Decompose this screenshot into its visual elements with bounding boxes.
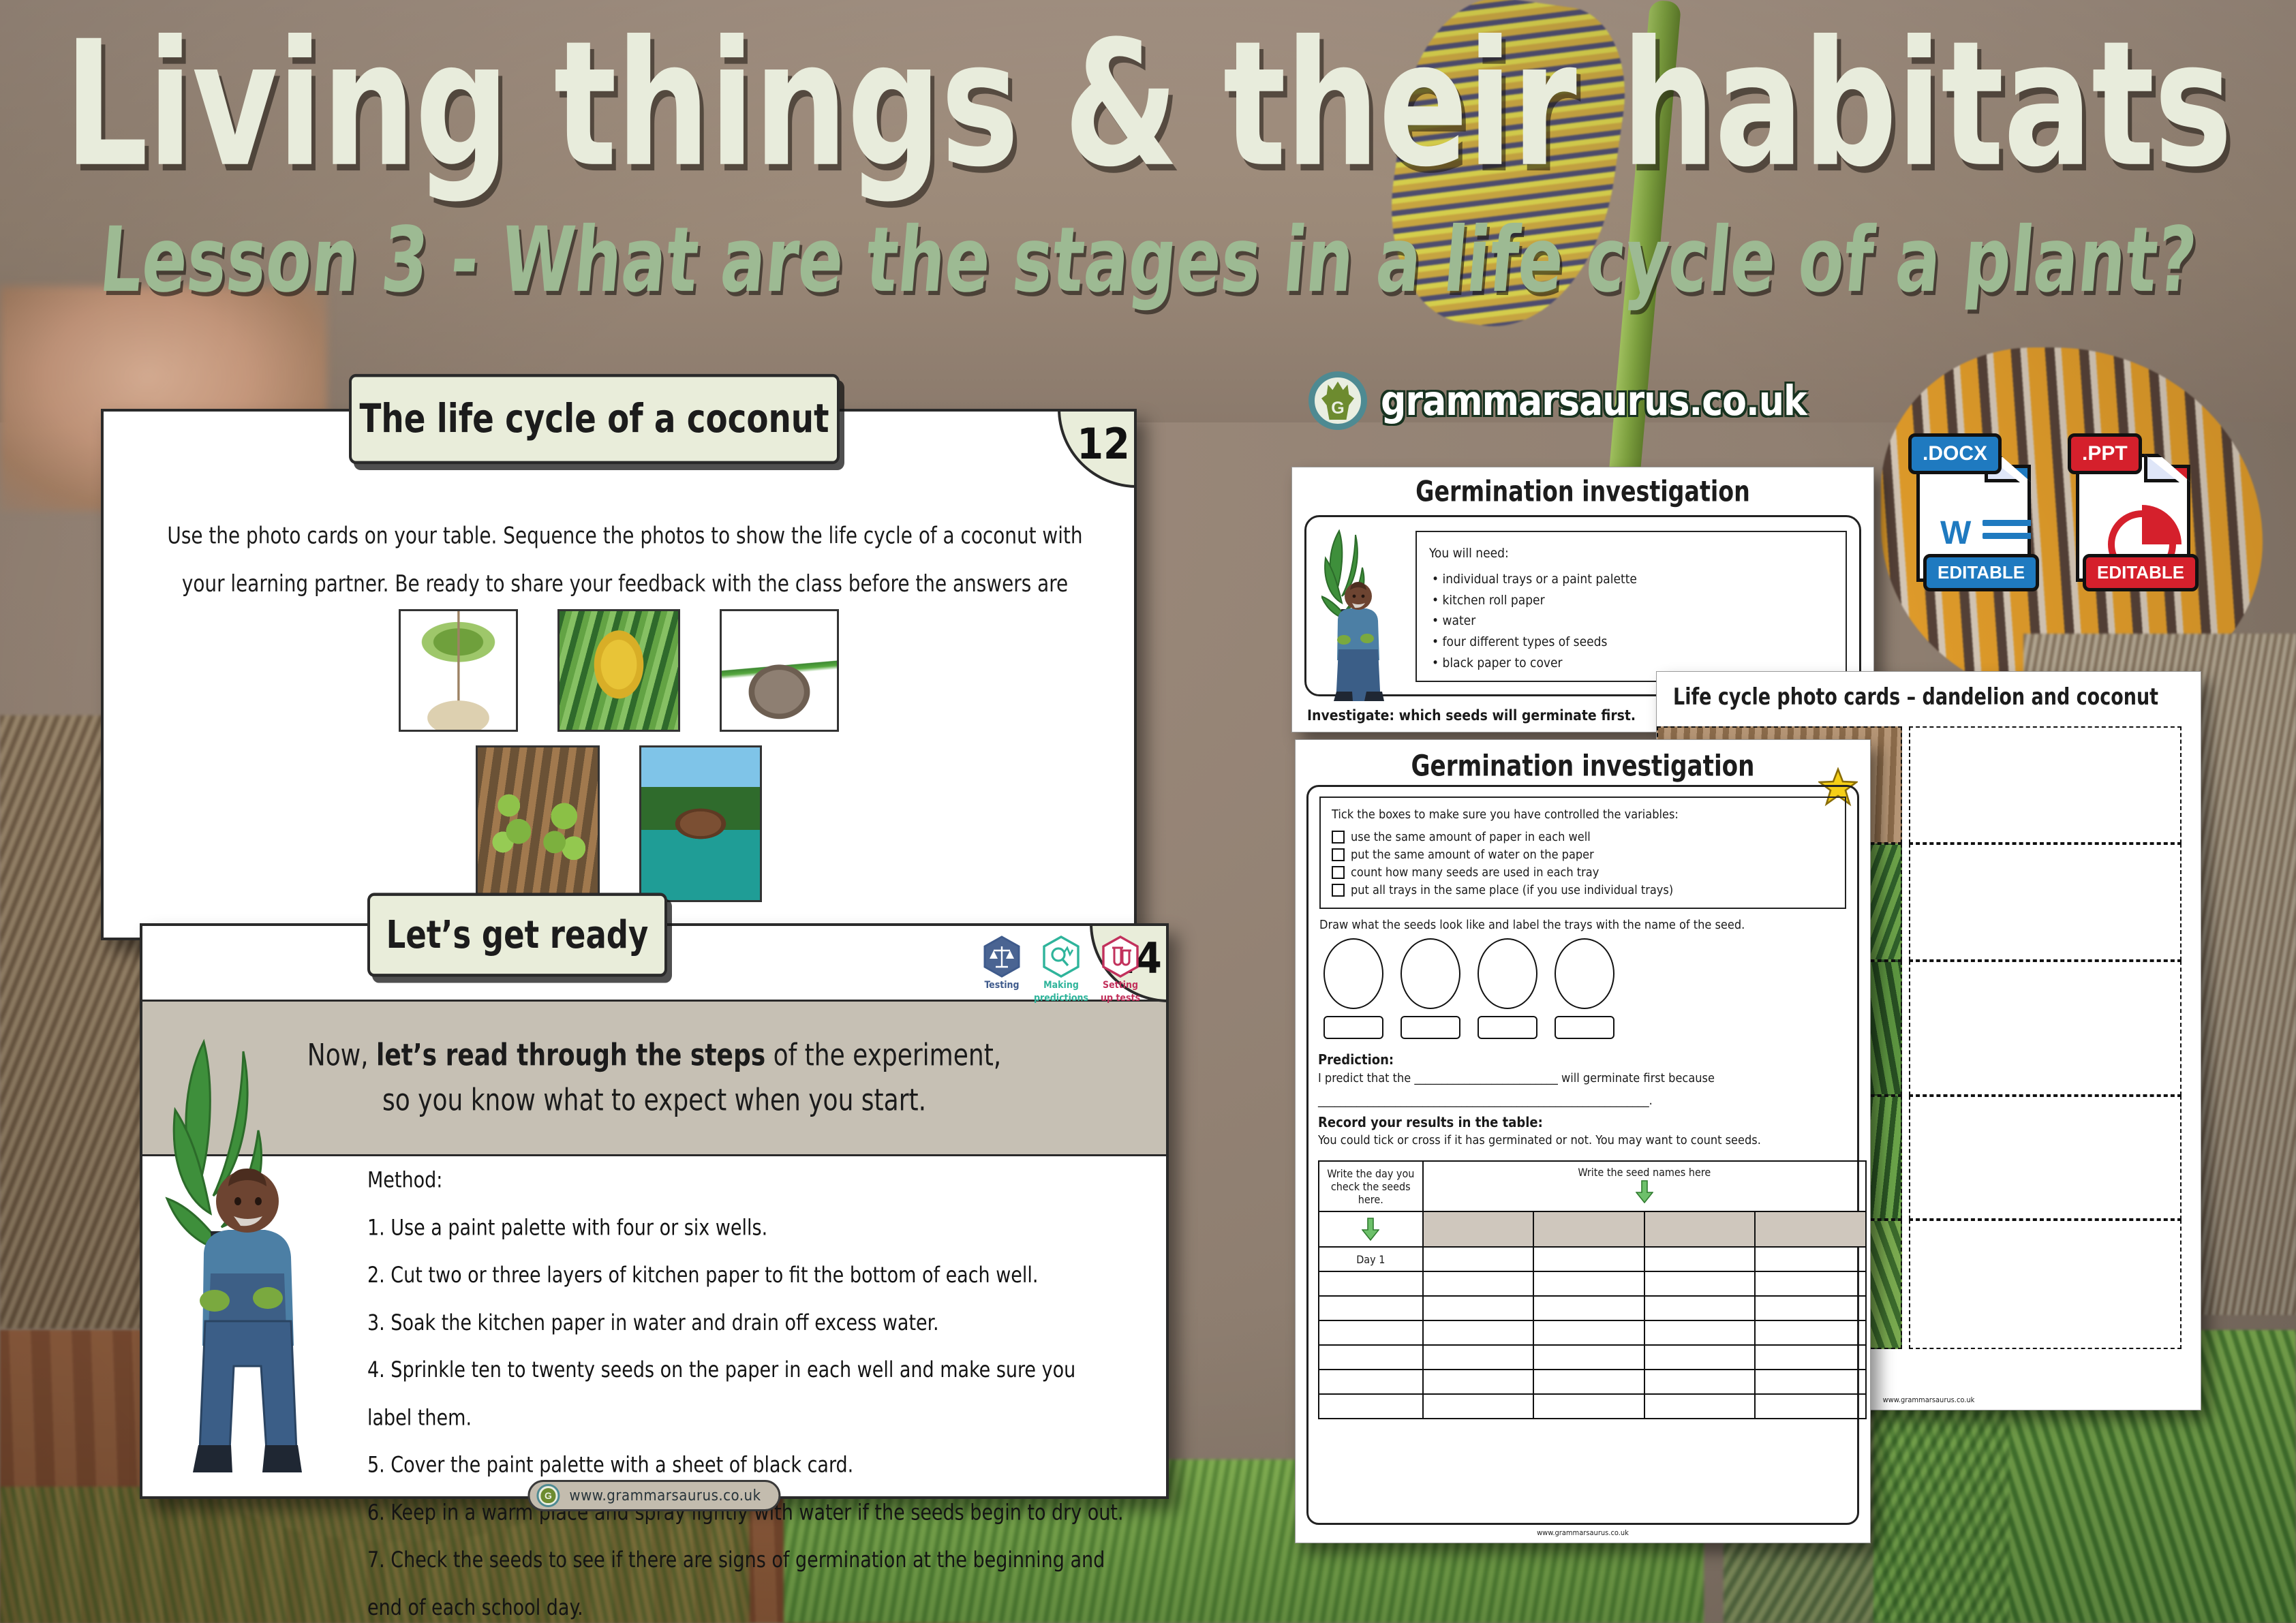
doc3-title: Life cycle photo cards – dandelion and c…	[1673, 684, 2201, 711]
slide-life-cycle-of-a-coconut[interactable]: The life cycle of a coconut 12 Use the p…	[101, 409, 1137, 940]
slide-lets-get-ready[interactable]: Let’s get ready 24 Testing	[140, 923, 1169, 1499]
brand-logo: grammarsaurus.co.uk	[1308, 371, 1807, 430]
checkbox[interactable]	[1332, 866, 1345, 879]
day-cell[interactable]: Day 1	[1319, 1247, 1423, 1271]
page-subtitle: Lesson 3 - What are the stages in a life…	[0, 216, 2296, 306]
doc1-title: Germination investigation	[1292, 475, 1873, 508]
result-cell[interactable]	[1533, 1247, 1644, 1271]
seed-label-box[interactable]	[1555, 1016, 1614, 1039]
doc1-need-item: • four different types of seeds	[1432, 632, 1833, 653]
result-cell[interactable]	[1755, 1247, 1866, 1271]
coconut-floating-in-water-photo[interactable]	[1909, 726, 2182, 844]
seed-name-cell[interactable]	[1533, 1211, 1644, 1247]
method-step-4: 4. Sprinkle ten to twenty seeds on the p…	[367, 1347, 1124, 1442]
ppt-editable-label: EDITABLE	[2083, 554, 2199, 591]
seed-name-cell[interactable]	[1755, 1211, 1866, 1247]
skill-setting-up-tests: Setting up tests	[1095, 936, 1146, 1004]
table-row[interactable]	[1319, 1211, 1866, 1247]
method-step-3: 3. Soak the kitchen paper in water and d…	[367, 1299, 1124, 1347]
slide24-skill-icons: Testing Making predictions Setting up te…	[977, 936, 1146, 1004]
slide12-title-box: The life cycle of a coconut	[349, 374, 840, 464]
magnifier-graph-icon	[1042, 936, 1080, 978]
doc1-need-item: • kitchen roll paper	[1432, 590, 1833, 611]
skill-setup-label-2: up tests	[1101, 993, 1140, 1004]
table-row[interactable]	[1319, 1271, 1866, 1296]
page-title: Living things & their habitats	[0, 0, 2296, 191]
intro-post: of the experiment,	[765, 1038, 1001, 1073]
coconut-palm-flower-photo[interactable]	[1909, 1220, 2182, 1349]
banner: Living things & their habitats Lesson 3 …	[0, 0, 2296, 298]
col1-header: Write the day you check the seeds here.	[1319, 1161, 1423, 1211]
table-row[interactable]	[1319, 1370, 1866, 1394]
seed-drawing-circle[interactable]	[1400, 938, 1460, 1009]
doc2-results-table[interactable]: Write the day you check the seeds here. …	[1318, 1160, 1867, 1419]
seed-label-box[interactable]	[1323, 1016, 1383, 1039]
method-heading: Method:	[367, 1157, 1124, 1205]
doc2-tick-heading: Tick the boxes to make sure you have con…	[1332, 806, 1834, 824]
gardener-holding-plant-illustration	[163, 1028, 361, 1478]
green-down-arrow-icon	[1362, 1218, 1379, 1241]
doc1-investigate-line: Investigate: which seeds will germinate …	[1307, 707, 1636, 724]
checkbox[interactable]	[1332, 848, 1345, 861]
slide24-intro-line2: so you know what to expect when you star…	[382, 1075, 926, 1126]
doc2-tick-item[interactable]: count how many seeds are used in each tr…	[1332, 864, 1834, 882]
checkbox[interactable]	[1332, 884, 1345, 897]
method-step-7: 7. Check the seeds to see if there are s…	[367, 1536, 1124, 1623]
docx-editable-label: EDITABLE	[1923, 554, 2039, 591]
green-coconuts-on-tree-photo[interactable]	[1909, 961, 2182, 1096]
ppt-badge[interactable]: .PPT EDITABLE	[2068, 429, 2204, 586]
seed-drawing-circle[interactable]	[1323, 938, 1383, 1009]
skill-testing: Testing	[977, 936, 1027, 1004]
slide12-number: 12	[1077, 419, 1130, 469]
balance-scales-icon	[983, 936, 1021, 978]
slide24-intro-line1: Now, let’s read through the steps of the…	[307, 1030, 1001, 1081]
file-format-badges: W .DOCX EDITABLE .PPT EDITABLE	[1908, 429, 2204, 586]
doc2-tick-item[interactable]: put all trays in the same place (if you …	[1332, 882, 1834, 899]
slide24-footer-url: www.grammarsaurus.co.uk	[569, 1487, 761, 1504]
skill-testing-label-1: Testing	[984, 980, 1019, 991]
slide12-photo-row-1	[399, 609, 839, 732]
doc1-need-item: • black paper to cover	[1432, 653, 1833, 674]
gardener-holding-plant-illustration	[1321, 525, 1402, 701]
doc2-frame: Tick the boxes to make sure you have con…	[1306, 785, 1859, 1525]
col2-header: Write the seed names here	[1423, 1161, 1866, 1211]
slide24-method: Method: 1. Use a paint palette with four…	[367, 1157, 1124, 1623]
seed-drawing-circle[interactable]	[1478, 938, 1537, 1009]
skill-pred-label-2: predictions	[1034, 993, 1088, 1004]
table-row[interactable]	[1319, 1394, 1866, 1419]
green-coconuts-on-tree-photo[interactable]	[476, 745, 600, 902]
arrow-cell	[1319, 1211, 1423, 1247]
table-row[interactable]	[1319, 1345, 1866, 1370]
seed-name-cell[interactable]	[1423, 1211, 1534, 1247]
skill-setup-label-1: Setting	[1103, 980, 1138, 991]
doc1-you-will-need-box: You will need: • individual trays or a p…	[1415, 531, 1847, 682]
doc2-title: Germination investigation	[1296, 749, 1870, 782]
sprouting-coconut-photo[interactable]	[1909, 1096, 2182, 1220]
doc2-prediction-line1: I predict that the _____________________…	[1318, 1071, 1848, 1085]
intro-bold: let’s read through the steps	[376, 1038, 765, 1073]
coconut-palm-tree-photo[interactable]	[1909, 844, 2182, 961]
table-row[interactable]	[1319, 1320, 1866, 1345]
doc2-record-block: Record your results in the table: You co…	[1318, 1114, 1848, 1147]
slide24-footer-pill[interactable]: www.grammarsaurus.co.uk	[527, 1480, 780, 1511]
doc2-tick-item[interactable]: put the same amount of water on the pape…	[1332, 846, 1834, 864]
slide24-title-box: Let’s get ready	[367, 893, 667, 976]
grammarsaurus-dino-head-icon	[1308, 371, 1367, 430]
prediction-blank-field[interactable]: __________________________	[1414, 1071, 1557, 1085]
doc1-frame: You will need: • individual trays or a p…	[1304, 515, 1861, 696]
slide12-photo-row-2	[476, 745, 762, 902]
skill-pred-label-1: Making	[1043, 980, 1079, 991]
docx-ext-label: .DOCX	[1908, 433, 2002, 474]
doc2-footer-url: www.grammarsaurus.co.uk	[1296, 1528, 1870, 1537]
doc1-needs-heading: You will need:	[1429, 543, 1833, 564]
doc2-tick-box: Tick the boxes to make sure you have con…	[1319, 797, 1846, 909]
doc1-need-item: • individual trays or a paint palette	[1432, 569, 1833, 590]
checkbox[interactable]	[1332, 831, 1345, 844]
doc2-draw-ellipses	[1323, 938, 1614, 1009]
docx-badge[interactable]: W .DOCX EDITABLE	[1908, 429, 2045, 586]
result-cell[interactable]	[1644, 1247, 1756, 1271]
coconut-palm-tree-photo[interactable]	[399, 609, 518, 732]
coconut-floating-in-water-photo[interactable]	[639, 745, 762, 902]
green-down-arrow-icon	[1636, 1180, 1653, 1203]
grammarsaurus-dino-head-icon	[536, 1484, 560, 1507]
slide12-title: The life cycle of a coconut	[360, 396, 829, 442]
table-header-row: Write the day you check the seeds here. …	[1319, 1161, 1866, 1211]
slide12-number-badge: 12	[1058, 409, 1137, 488]
seed-label-box[interactable]	[1478, 1016, 1537, 1039]
doc1-need-item: • water	[1432, 610, 1833, 632]
doc2-prediction-block: Prediction: I predict that the _________…	[1318, 1051, 1848, 1108]
doc2-prediction-line2[interactable]: ________________________________________…	[1318, 1094, 1848, 1108]
doc2-record-sub: You could tick or cross if it has germin…	[1318, 1133, 1848, 1147]
method-step-2: 2. Cut two or three layers of kitchen pa…	[367, 1252, 1124, 1300]
coconut-palm-flower-photo[interactable]	[557, 609, 680, 732]
sprouting-coconut-photo[interactable]	[720, 609, 839, 732]
table-row[interactable]	[1319, 1296, 1866, 1320]
doc2-draw-instruction: Draw what the seeds look like and label …	[1319, 918, 1745, 932]
doc2-record-heading: Record your results in the table:	[1318, 1114, 1848, 1130]
seed-drawing-circle[interactable]	[1555, 938, 1614, 1009]
doc3-card-column	[1909, 726, 2182, 1349]
brand-name: grammarsaurus.co.uk	[1381, 376, 1807, 424]
doc2-label-boxes	[1323, 1016, 1614, 1039]
doc2-prediction-heading: Prediction:	[1318, 1051, 1848, 1068]
method-step-1: 1. Use a paint palette with four or six …	[367, 1205, 1124, 1252]
test-tubes-icon	[1101, 936, 1139, 978]
germination-investigation-sheet-2[interactable]: Germination investigation Tick the boxes…	[1295, 739, 1871, 1543]
seed-label-box[interactable]	[1400, 1016, 1460, 1039]
skill-making-predictions: Making predictions	[1036, 936, 1086, 1004]
slide24-title: Let’s get ready	[386, 913, 649, 957]
seed-name-cell[interactable]	[1644, 1211, 1756, 1247]
table-row[interactable]: Day 1	[1319, 1247, 1866, 1271]
doc2-tick-item[interactable]: use the same amount of paper in each wel…	[1332, 829, 1834, 846]
result-cell[interactable]	[1423, 1247, 1534, 1271]
ppt-ext-label: .PPT	[2068, 433, 2142, 474]
